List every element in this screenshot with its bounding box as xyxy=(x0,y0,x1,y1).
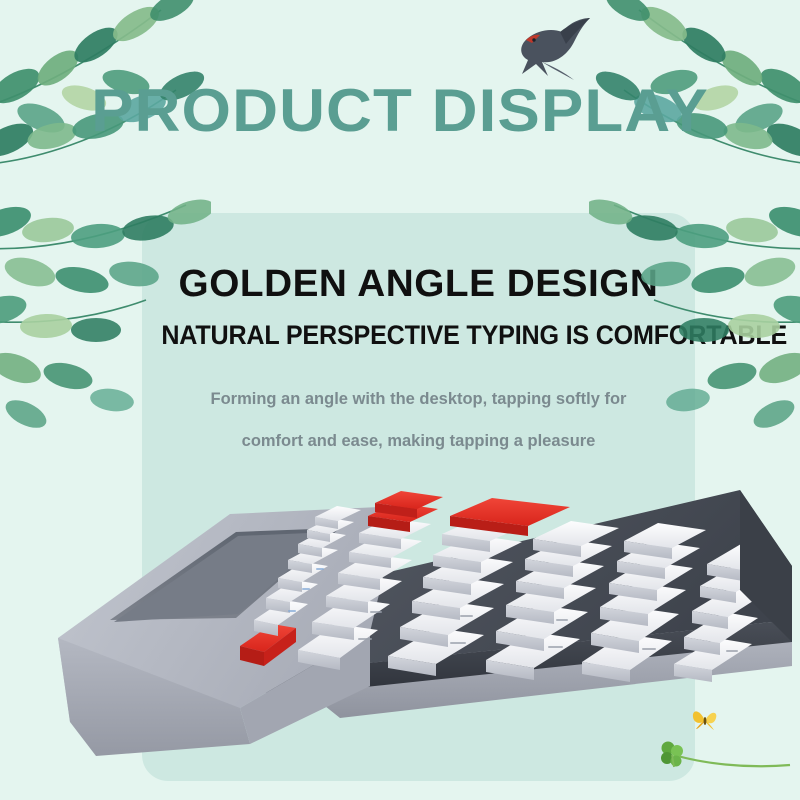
feature-subheading: NATURAL PERSPECTIVE TYPING IS COMFORTABL… xyxy=(161,320,675,351)
feature-description: Forming an angle with the desktop, tappi… xyxy=(179,378,657,462)
feature-description-line-1: Forming an angle with the desktop, tappi… xyxy=(179,378,657,420)
swallow-bird-icon xyxy=(512,16,594,82)
feature-heading: GOLDEN ANGLE DESIGN xyxy=(136,263,700,306)
product-display-poster: PRODUCT DISPLAY xyxy=(0,0,800,800)
butterfly-icon xyxy=(690,705,720,733)
clover-sprig-icon xyxy=(648,735,792,779)
feature-description-line-2: comfort and ease, making tapping a pleas… xyxy=(179,420,657,462)
keyboard-product-image xyxy=(40,470,800,770)
page-title: PRODUCT DISPLAY xyxy=(0,76,800,145)
